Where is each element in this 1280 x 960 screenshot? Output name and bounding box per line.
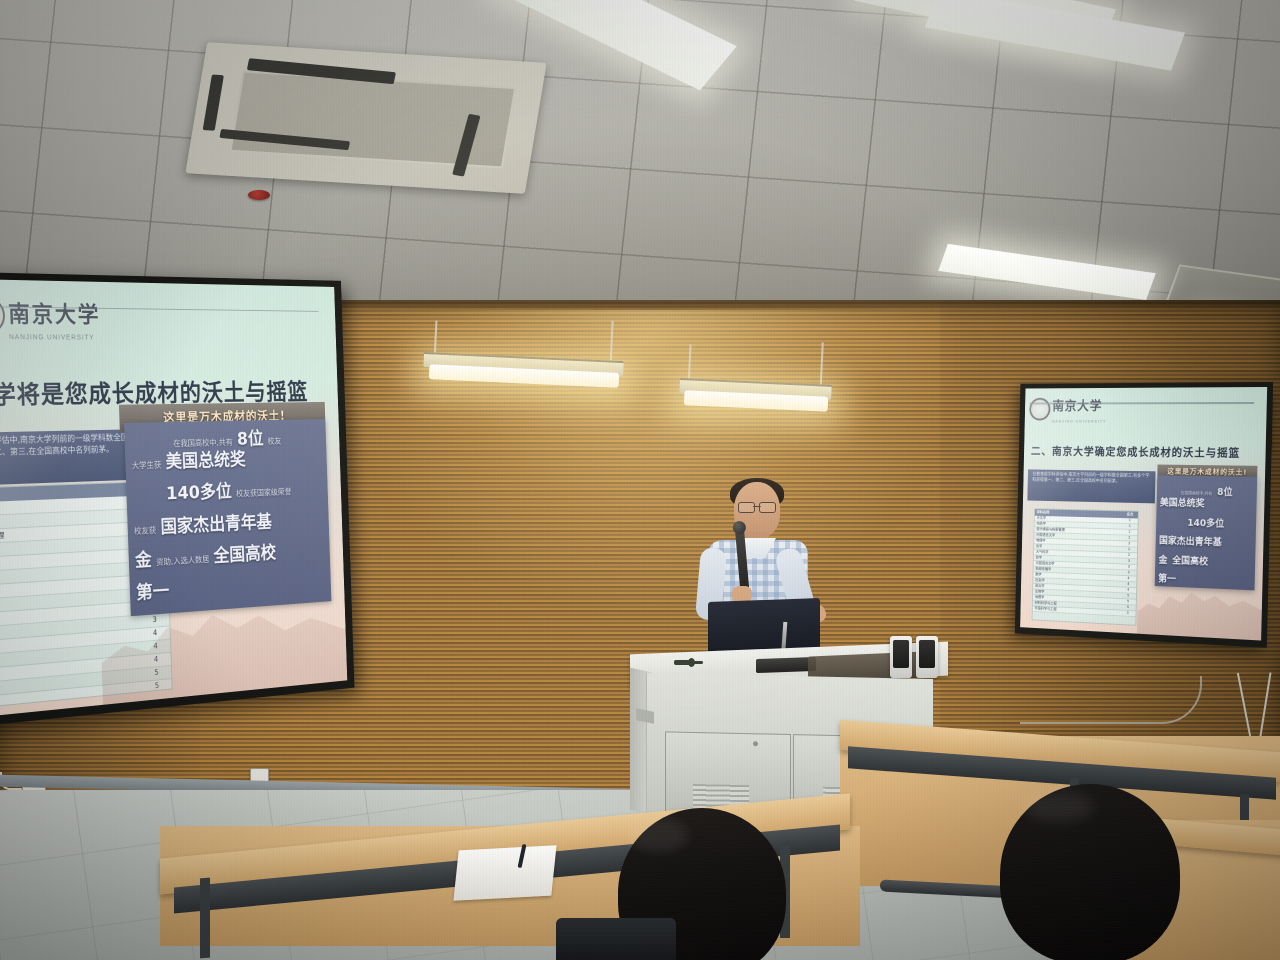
highlight-big: 第一 xyxy=(136,581,170,604)
paper-sheet[interactable] xyxy=(453,845,556,900)
slide-note-box: 在教育部学科评估中,南京大学列前的一级学科数全国第三,有多个学科获得第一、第二、… xyxy=(1028,470,1156,504)
slide-right: 南京大学 NANJING UNIVERSITY 二、南京大学确定您成长成材的沃土… xyxy=(1020,387,1267,641)
cell-rank: 4 xyxy=(1122,576,1135,581)
university-name: 南京大学 xyxy=(8,294,101,328)
cell-rank: 2 xyxy=(1123,553,1136,558)
highlight-big2: 全国高校 xyxy=(213,542,276,566)
ac-vane xyxy=(203,75,224,131)
slide-header-rule xyxy=(1030,402,1255,404)
cell-rank: 3 xyxy=(1122,564,1135,569)
projection-screen-left[interactable]: 南京大学 NANJING UNIVERSITY 大学将是您成长成材的沃土与摇篮 … xyxy=(0,272,354,728)
cell-rank: 2 xyxy=(1123,547,1136,552)
highlight-big2: 全国高校 xyxy=(1172,555,1208,567)
highlight-box: 在我国高校中,共有 8位 美国总统奖 140多位 国家杰出青年基 金 全国高校 xyxy=(1155,475,1257,590)
microphone-base[interactable] xyxy=(756,657,816,673)
cell-rank: 1 xyxy=(1123,530,1136,535)
chair-backrest xyxy=(556,918,676,960)
highlight-small: 大学生获 xyxy=(132,461,162,471)
university-seal-icon xyxy=(0,296,5,334)
cell-rank: 4 xyxy=(1122,587,1135,592)
keys-icon[interactable] xyxy=(674,658,704,670)
slide-logo-row: 南京大学 NANJING UNIVERSITY xyxy=(1029,395,1262,436)
university-name-en: NANJING UNIVERSITY xyxy=(1052,419,1106,424)
highlight-line: 国家杰出青年基 xyxy=(1159,531,1253,550)
cell-rank: 1 xyxy=(1123,518,1136,523)
university-name-en: NANJING UNIVERSITY xyxy=(9,335,95,342)
highlight-big: 国家杰出青年基 xyxy=(1159,536,1222,549)
table-body: 天文学1地质学1图书情报与档案管理1外国语言文学2物理学2化学2大气科学2哲学3… xyxy=(1033,516,1138,617)
highlight-big: 金 xyxy=(135,549,152,571)
highlight-small: 校友获国家级荣誉 xyxy=(236,488,292,499)
highlight-line: 金 资助,入选人数居 全国高校 xyxy=(135,541,324,570)
column-header-rank: 名次 xyxy=(1124,512,1137,517)
highlight-line: 大学生获 美国总统奖 xyxy=(131,449,321,472)
highlight-small: 资助,入选人数居 xyxy=(156,555,209,568)
podium-knob[interactable] xyxy=(753,741,758,746)
cell-rank: 5 xyxy=(1122,593,1135,598)
highlight-big: 国家杰出青年基 xyxy=(160,511,272,537)
highlight-line: 140多位 校友获国家级荣誉 xyxy=(132,480,321,505)
cell-rank: 1 xyxy=(1123,524,1136,529)
lecture-hall-photo: 南京大学 NANJING UNIVERSITY 大学将是您成长成材的沃土与摇篮 … xyxy=(0,0,1280,960)
highlight-line: 金 全国高校 xyxy=(1158,550,1252,569)
projector-cable xyxy=(1020,676,1202,724)
highlight-line: 140多位 xyxy=(1159,512,1253,530)
highlight-big: 美国总统奖 xyxy=(165,449,246,472)
cell-rank: 3 xyxy=(1122,570,1135,575)
highlight-big: 8位 xyxy=(237,428,264,449)
highlight-big: 第一 xyxy=(1158,574,1176,585)
highlight-line: 校友获 国家杰出青年基 xyxy=(134,510,323,537)
ceiling-ac-cassette-icon xyxy=(185,42,546,194)
cell-rank: 5 xyxy=(1121,605,1134,610)
university-seal-icon xyxy=(1029,398,1051,421)
glasses-icon xyxy=(738,502,776,511)
cell-rank: 3 xyxy=(1122,559,1135,564)
highlight-tail: 校友 xyxy=(267,437,281,446)
highlight-big: 140多位 xyxy=(1187,518,1224,530)
highlight-line: 第一 xyxy=(136,572,325,603)
cell-rank: 5 xyxy=(1121,611,1134,616)
desktop-speaker xyxy=(916,636,938,678)
desktop-speaker xyxy=(890,636,912,678)
discipline-rank-table: 学科名称 名次 天文学1地质学1图书情报与档案管理1外国语言文学2物理学2化学2… xyxy=(1032,508,1140,626)
highlight-box: 在我国高校中,共有 8位 校友 大学生获 美国总统奖 140多位 校友获国家级荣… xyxy=(124,419,331,616)
highlight-small: 校友获 xyxy=(134,526,157,537)
slide-logo-row: 南京大学 NANJING UNIVERSITY xyxy=(0,292,330,362)
highlight-line: 美国总统奖 xyxy=(1160,493,1254,511)
highlight-big: 140多位 xyxy=(166,481,232,504)
cell-rank: 4 xyxy=(1122,582,1135,587)
highlight-line: 第一 xyxy=(1158,569,1252,589)
cell-rank: 5 xyxy=(1122,599,1135,604)
highlight-line: 在我国高校中,共有 8位 校友 xyxy=(131,429,321,451)
cell-rank: 2 xyxy=(1123,541,1136,546)
desk-leg xyxy=(200,878,210,959)
slide-title: 二、南京大学确定您成长成材的沃土与摇篮 xyxy=(1031,443,1267,461)
cell-rank: 3 xyxy=(143,615,166,627)
smoke-detector-icon xyxy=(248,190,270,200)
highlight-big: 美国总统奖 xyxy=(1160,498,1205,510)
projection-screen-right[interactable]: 南京大学 NANJING UNIVERSITY 二、南京大学确定您成长成材的沃土… xyxy=(1015,382,1273,648)
university-name: 南京大学 xyxy=(1052,396,1102,414)
student-foreground-right xyxy=(1000,784,1180,960)
highlight-big: 金 xyxy=(1158,555,1167,566)
cell-rank: 2 xyxy=(1123,535,1136,540)
slide-left: 南京大学 NANJING UNIVERSITY 大学将是您成长成材的沃土与摇篮 … xyxy=(0,279,347,718)
highlight-small: 在我国高校中,共有 xyxy=(173,438,233,449)
